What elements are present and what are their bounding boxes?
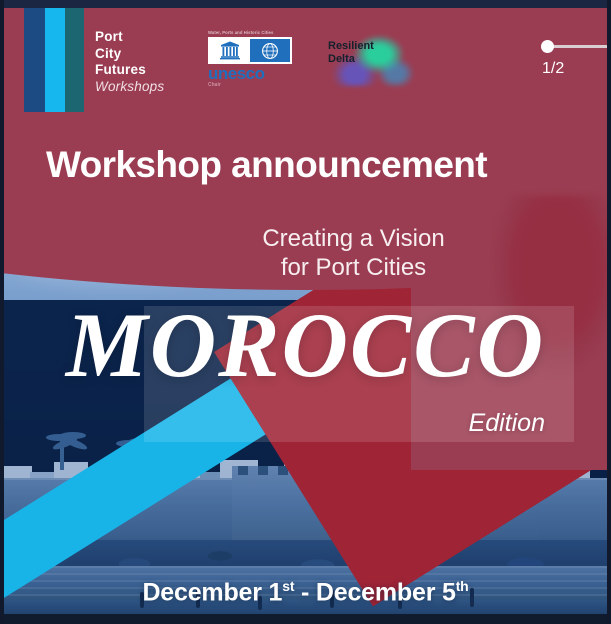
pager-track[interactable] [547,45,611,48]
country-headline: MOROCCO [0,297,611,393]
poster-canvas: Port City Futures Workshops Water, Ports… [0,0,611,624]
brand-bar-cyan [45,8,65,112]
brand-bar-teal [65,8,84,112]
brand-line-workshops: Workshops [95,79,164,96]
page-subtitle: Creating a Vision for Port Cities [0,224,611,282]
brand-line-city: City [95,46,164,63]
date-start-month: December [142,578,261,606]
date-end-month: December [316,578,435,606]
subtitle-line-1: Creating a Vision [96,224,611,253]
unesco-tagline: Water, Ports and Historic Cities [208,30,296,35]
resilient-delta-line2: Delta [328,53,374,66]
resilient-delta-label: Resilient Delta [328,40,374,66]
resilient-delta-logo: Resilient Delta [322,28,414,86]
date-separator: - [294,578,316,606]
brand-line-futures: Futures [95,62,164,79]
subtitle-line-2: for Port Cities [96,253,611,282]
edition-label: Edition [469,409,545,438]
unesco-wordmark: unesco [208,65,296,83]
pager-count-label: 1/2 [542,60,564,78]
left-border [0,0,4,624]
date-end-suffix: th [456,578,469,594]
unesco-logo: Water, Ports and Historic Cities [208,30,296,88]
date-end-day: 5 [442,578,456,606]
unesco-emblem-box [208,37,292,64]
brand-line-port: Port [95,29,164,46]
bottom-border [0,614,611,624]
pager-handle-dot[interactable] [541,40,554,53]
brand-bar-navy [24,8,45,112]
right-border [607,0,611,624]
resilient-delta-line1: Resilient [328,40,374,53]
date-start-suffix: st [282,578,294,594]
brand-lockup: Port City Futures Workshops [95,29,164,95]
unesco-globe-icon [250,39,290,62]
brand-color-bars [24,8,84,112]
event-dates: December 1st - December 5th [0,578,611,607]
top-border [0,0,611,8]
page-title: Workshop announcement [46,144,487,186]
date-start-day: 1 [269,578,283,606]
unesco-temple-icon [210,39,250,62]
